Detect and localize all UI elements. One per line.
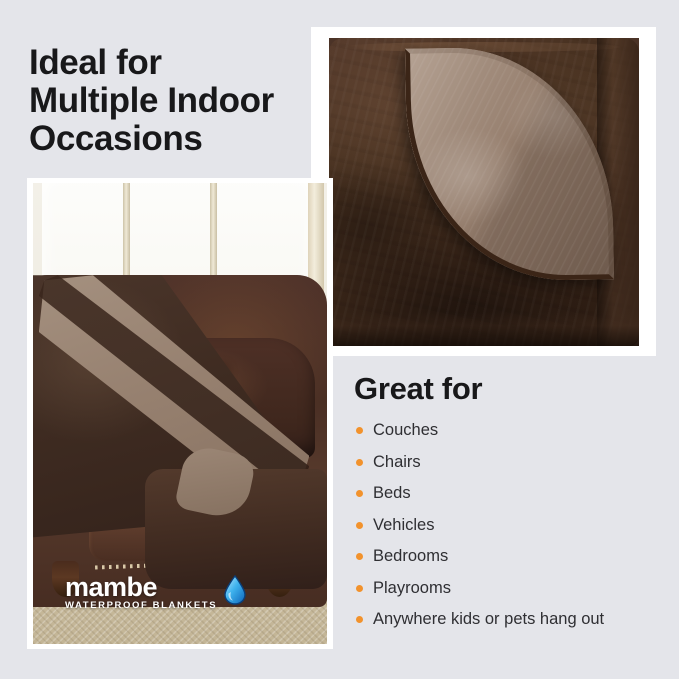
- brand-logo-text: mambe WATERPROOF BLANKETS: [65, 574, 217, 612]
- list-item-label: Vehicles: [373, 516, 434, 534]
- bullet-icon: [356, 585, 363, 592]
- great-for-list: Couches Chairs Beds Vehicles Bedrooms Pl…: [352, 420, 672, 641]
- list-item-label: Playrooms: [373, 579, 451, 597]
- list-item-label: Couches: [373, 421, 438, 439]
- list-item: Playrooms: [352, 578, 672, 610]
- list-item: Couches: [352, 420, 672, 452]
- list-item: Beds: [352, 483, 672, 515]
- headline-line-3: Occasions: [29, 120, 329, 158]
- blanket-folded-corner: [404, 45, 613, 283]
- list-item: Anywhere kids or pets hang out: [352, 609, 672, 641]
- list-item: Bedrooms: [352, 546, 672, 578]
- marketing-image-canvas: Ideal for Multiple Indoor Occasions: [0, 0, 679, 679]
- list-item-label: Bedrooms: [373, 547, 448, 565]
- great-for-section: Great for Couches Chairs Beds Vehicles B…: [352, 372, 672, 641]
- water-drop-icon: [223, 575, 247, 610]
- page-title: Ideal for Multiple Indoor Occasions: [29, 44, 329, 158]
- bullet-icon: [356, 427, 363, 434]
- bullet-icon: [356, 459, 363, 466]
- brand-name: mambe: [65, 574, 217, 600]
- headline-line-2: Multiple Indoor: [29, 82, 329, 120]
- bullet-icon: [356, 616, 363, 623]
- brand-logo: mambe WATERPROOF BLANKETS: [65, 574, 247, 612]
- great-for-title: Great for: [354, 372, 672, 406]
- list-item-label: Beds: [373, 484, 411, 502]
- list-item-label: Chairs: [373, 453, 421, 471]
- blanket-bottom-fold: [329, 312, 639, 346]
- list-item: Chairs: [352, 452, 672, 484]
- brand-tagline: WATERPROOF BLANKETS: [65, 600, 217, 612]
- blanket-product-photo: [329, 38, 639, 346]
- list-item: Vehicles: [352, 515, 672, 547]
- chair-lifestyle-photo-panel: mambe WATERPROOF BLANKETS: [27, 178, 333, 649]
- bullet-icon: [356, 522, 363, 529]
- blanket-product-photo-panel: [311, 27, 656, 356]
- headline-line-1: Ideal for: [29, 44, 329, 82]
- bullet-icon: [356, 553, 363, 560]
- bullet-icon: [356, 490, 363, 497]
- list-item-label: Anywhere kids or pets hang out: [373, 610, 604, 628]
